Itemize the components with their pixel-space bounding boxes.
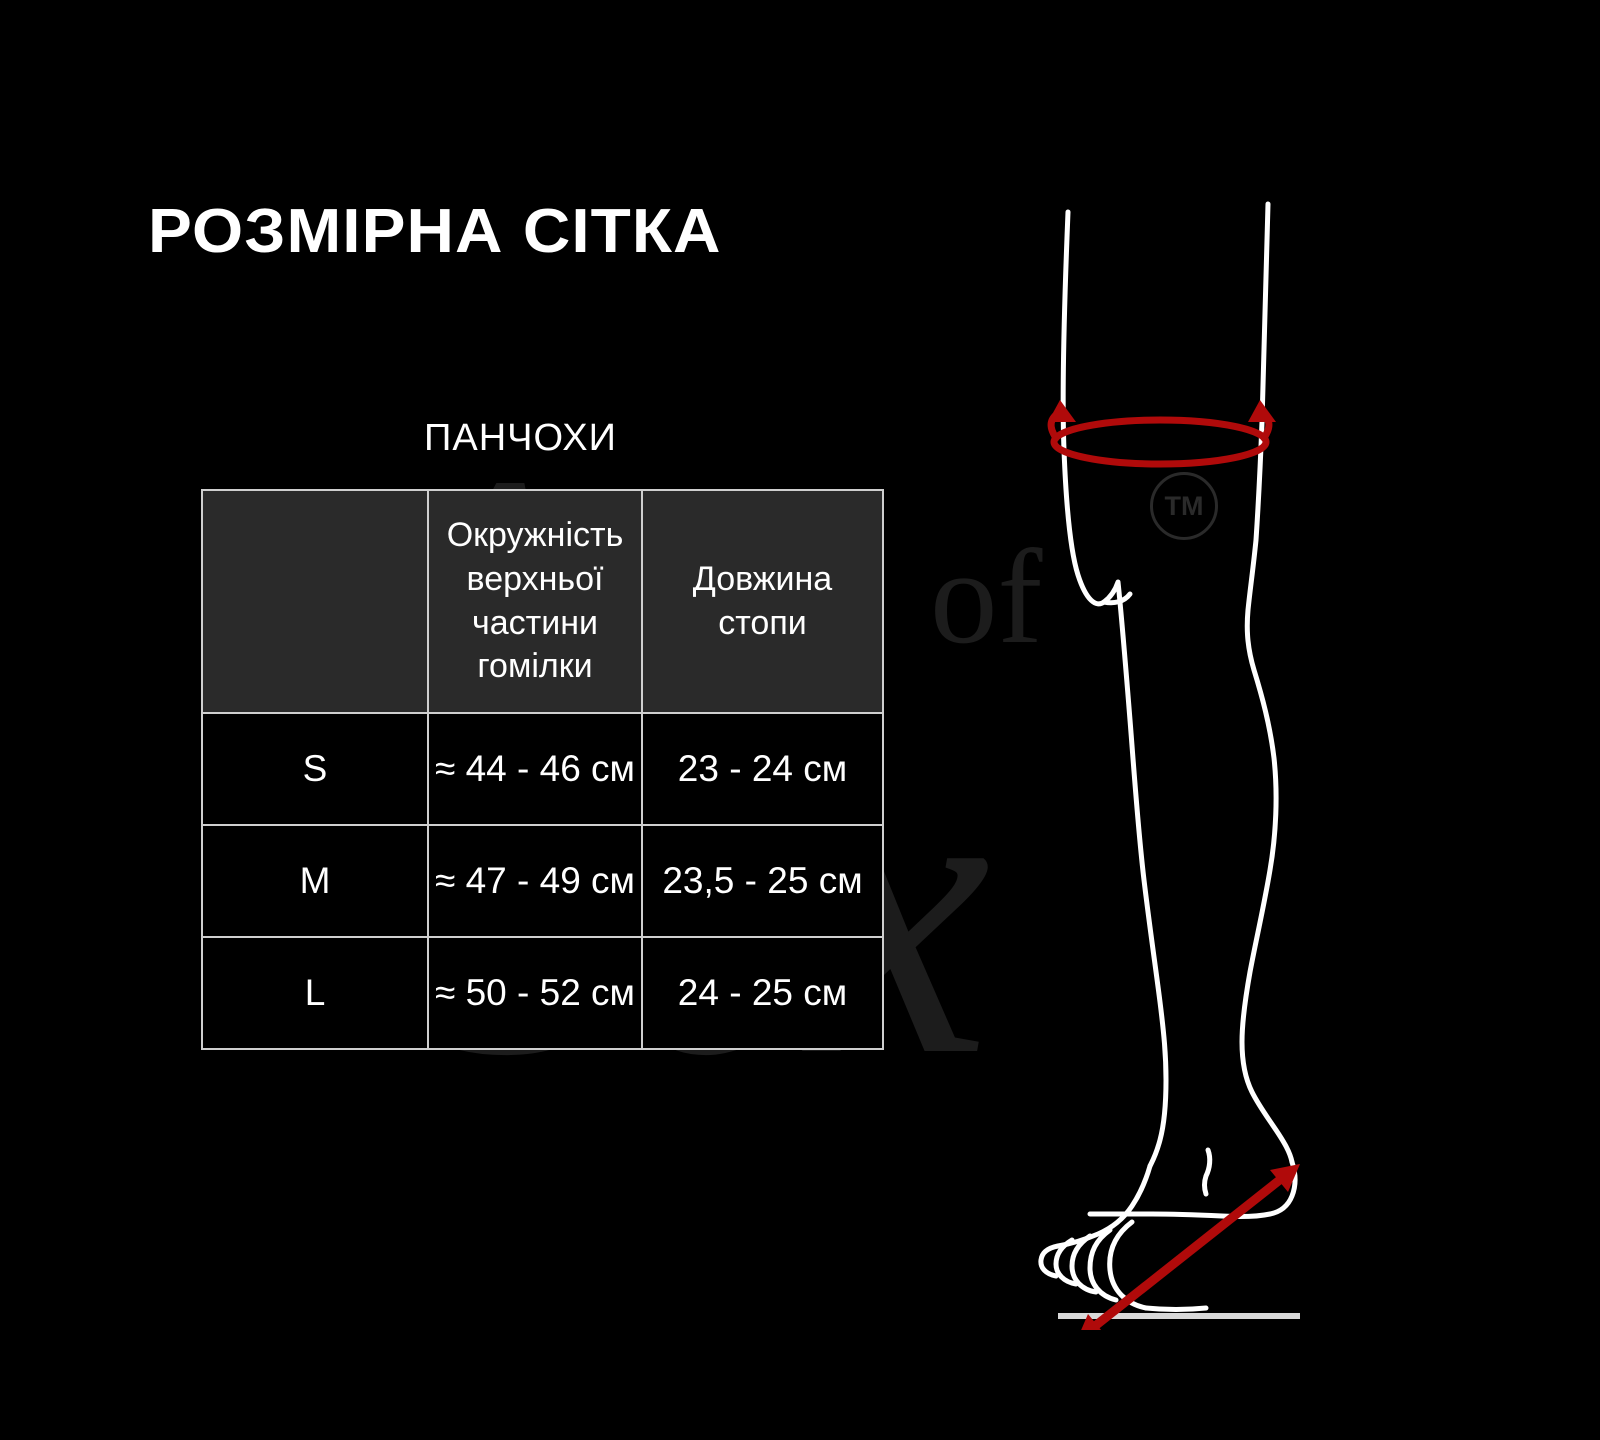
product-category-label: ПАНЧОХИ (201, 417, 840, 460)
table-row: S ≈ 44 - 46 см 23 - 24 см (202, 713, 883, 825)
page-title: РОЗМІРНА СІТКА (148, 196, 722, 267)
cell-circumference: ≈ 47 - 49 см (428, 825, 642, 937)
cell-circumference: ≈ 44 - 46 см (428, 713, 642, 825)
thigh-circumference-indicator (1048, 400, 1276, 464)
cell-size: L (202, 937, 428, 1049)
leg-illustration (1000, 150, 1420, 1330)
cell-foot-length: 23 - 24 см (642, 713, 883, 825)
size-chart-page: Art of Sex TM РОЗМІРНА СІТКА ПАНЧОХИ Окр… (0, 0, 1600, 1440)
table-body: S ≈ 44 - 46 см 23 - 24 см M ≈ 47 - 49 см… (202, 713, 883, 1049)
table-header: Окружність верхньої частини гомілки Довж… (202, 490, 883, 713)
cell-circumference: ≈ 50 - 52 см (428, 937, 642, 1049)
table-header-row: Окружність верхньої частини гомілки Довж… (202, 490, 883, 713)
cell-size: S (202, 713, 428, 825)
cell-foot-length: 24 - 25 см (642, 937, 883, 1049)
header-line-3: частини (472, 604, 598, 642)
foot-sole-icon (1146, 1308, 1206, 1310)
header-cell-size (202, 490, 428, 713)
cell-size: M (202, 825, 428, 937)
size-table: Окружність верхньої частини гомілки Довж… (201, 489, 884, 1050)
header-line-2: стопи (718, 604, 807, 642)
header-cell-foot-length: Довжина стопи (642, 490, 883, 713)
cell-foot-length: 23,5 - 25 см (642, 825, 883, 937)
header-line-1: Окружність (447, 516, 624, 554)
leg-outline-right-icon (1242, 204, 1292, 1162)
table-row: L ≈ 50 - 52 см 24 - 25 см (202, 937, 883, 1049)
header-cell-circumference: Окружність верхньої частини гомілки (428, 490, 642, 713)
header-line-1: Довжина (693, 560, 832, 598)
leg-outline-left-icon (1063, 212, 1166, 1166)
header-line-2: верхньої (467, 560, 604, 598)
header-line-4: гомілки (477, 647, 592, 685)
foot-length-indicator (1076, 1164, 1300, 1330)
ankle-detail-icon (1205, 1150, 1210, 1194)
table-row: M ≈ 47 - 49 см 23,5 - 25 см (202, 825, 883, 937)
